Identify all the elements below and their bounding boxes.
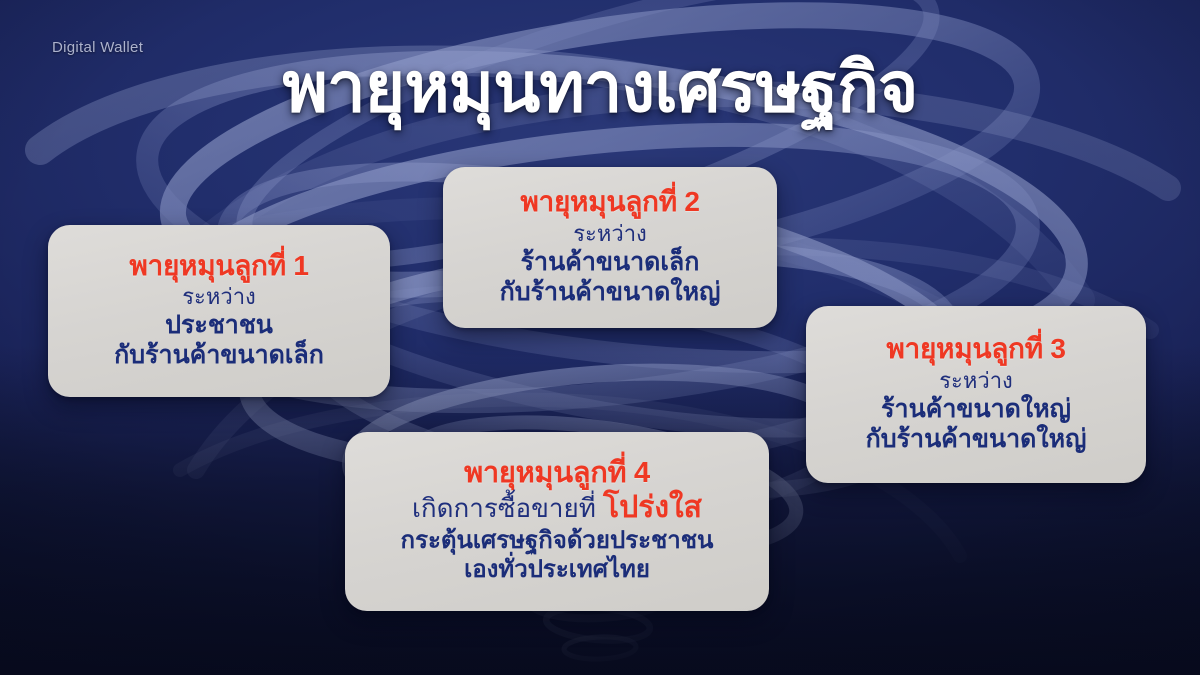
cyclone-card-4-line-1: กระตุ้นเศรษฐกิจด้วยประชาชน <box>363 527 751 556</box>
cyclone-card-1: พายุหมุนลูกที่ 1 ระหว่าง ประชาชน กับร้าน… <box>48 225 390 397</box>
cyclone-card-2-title: พายุหมุนลูกที่ 2 <box>461 186 759 218</box>
cyclone-card-3-title: พายุหมุนลูกที่ 3 <box>824 333 1128 365</box>
cyclone-card-1-subtitle: ระหว่าง <box>66 284 372 310</box>
cyclone-card-3-subtitle: ระหว่าง <box>824 368 1128 394</box>
cyclone-card-4-line-2: เองทั่วประเทศไทย <box>363 556 751 585</box>
cyclone-card-4-mixed-prefix: เกิดการซื้อขายที่ <box>412 493 603 523</box>
cyclone-card-1-line-2: กับร้านค้าขนาดเล็ก <box>66 340 372 370</box>
cyclone-card-1-title: พายุหมุนลูกที่ 1 <box>66 250 372 282</box>
cyclone-card-2-line-1: ร้านค้าขนาดเล็ก <box>461 247 759 277</box>
cyclone-card-4-mixed-line: เกิดการซื้อขายที่ โปร่งใส <box>363 490 751 527</box>
cyclone-card-3-line-1: ร้านค้าขนาดใหญ่ <box>824 394 1128 424</box>
slide-canvas: Digital Wallet พายุหมุนทางเศรษฐกิจ พายุห… <box>0 0 1200 675</box>
cyclone-card-3: พายุหมุนลูกที่ 3 ระหว่าง ร้านค้าขนาดใหญ่… <box>806 306 1146 483</box>
cyclone-card-2: พายุหมุนลูกที่ 2 ระหว่าง ร้านค้าขนาดเล็ก… <box>443 167 777 328</box>
cyclone-card-3-line-2: กับร้านค้าขนาดใหญ่ <box>824 424 1128 454</box>
page-title: พายุหมุนทางเศรษฐกิจ <box>0 52 1200 124</box>
cyclone-card-2-subtitle: ระหว่าง <box>461 221 759 247</box>
cyclone-card-2-line-2: กับร้านค้าขนาดใหญ่ <box>461 277 759 307</box>
cyclone-card-4: พายุหมุนลูกที่ 4 เกิดการซื้อขายที่ โปร่ง… <box>345 432 769 611</box>
cyclone-card-4-title: พายุหมุนลูกที่ 4 <box>363 457 751 491</box>
cyclone-card-4-mixed-accent: โปร่งใส <box>603 491 702 524</box>
cyclone-card-1-line-1: ประชาชน <box>66 310 372 340</box>
